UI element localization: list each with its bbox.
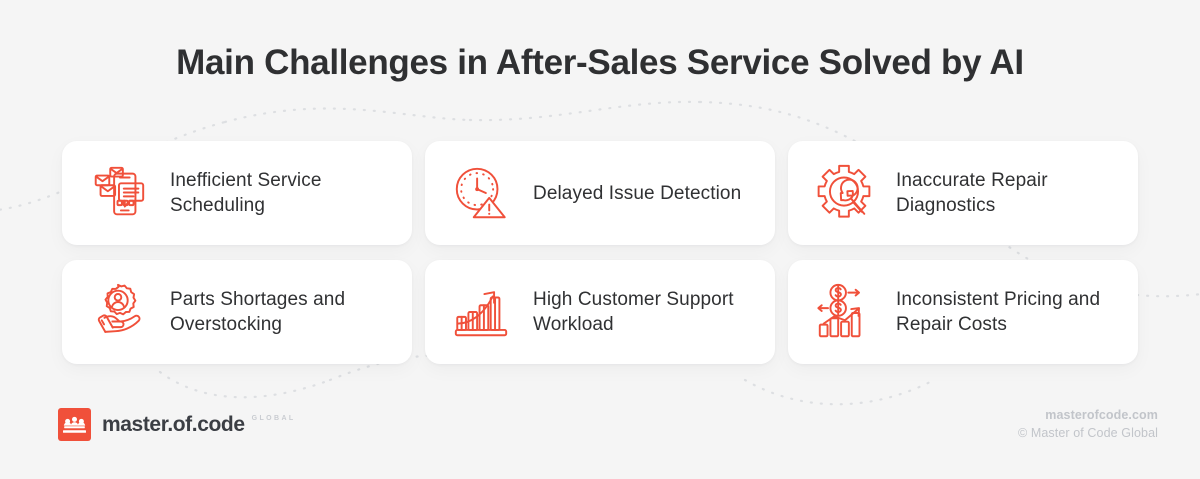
dollar-coins-bar-chart-icon: [812, 280, 876, 344]
card-inconsistent-pricing-and-repair-costs[interactable]: Inconsistent Pricing and Repair Costs: [788, 260, 1138, 364]
footer: master.of.code GLOBAL masterofcode.com ©…: [0, 400, 1200, 460]
brand-name: master.of.code: [102, 413, 245, 437]
card-label: Delayed Issue Detection: [533, 181, 741, 206]
card-label: High Customer Support Workload: [533, 287, 765, 337]
card-label: Inconsistent Pricing and Repair Costs: [896, 287, 1128, 337]
card-delayed-issue-detection[interactable]: Delayed Issue Detection: [425, 141, 775, 245]
footer-credits: masterofcode.com © Master of Code Global: [1018, 406, 1158, 442]
card-high-customer-support-workload[interactable]: High Customer Support Workload: [425, 260, 775, 364]
gear-wrench-icon: [812, 161, 876, 225]
brand-suffix: GLOBAL: [252, 415, 296, 422]
card-inaccurate-repair-diagnostics[interactable]: Inaccurate Repair Diagnostics: [788, 141, 1138, 245]
phone-envelopes-message-icon: [86, 161, 150, 225]
page-title: Main Challenges in After-Sales Service S…: [0, 41, 1200, 85]
master-of-code-logo-icon: [58, 408, 91, 441]
brand-logo[interactable]: master.of.code GLOBAL: [58, 408, 296, 441]
hand-gear-person-icon: [86, 280, 150, 344]
card-label: Parts Shortages and Overstocking: [170, 287, 402, 337]
card-label: Inefficient Service Scheduling: [170, 168, 402, 218]
card-inefficient-service-scheduling[interactable]: Inefficient Service Scheduling: [62, 141, 412, 245]
clock-warning-icon: [449, 161, 513, 225]
footer-website[interactable]: masterofcode.com: [1018, 406, 1158, 424]
footer-copyright: © Master of Code Global: [1018, 424, 1158, 442]
card-label: Inaccurate Repair Diagnostics: [896, 168, 1128, 218]
challenge-card-grid: Inefficient Service Scheduling Delayed I…: [62, 141, 1138, 364]
card-parts-shortages-and-overstocking[interactable]: Parts Shortages and Overstocking: [62, 260, 412, 364]
rising-bar-chart-arrow-icon: [449, 280, 513, 344]
infographic-root: Main Challenges in After-Sales Service S…: [0, 0, 1200, 479]
